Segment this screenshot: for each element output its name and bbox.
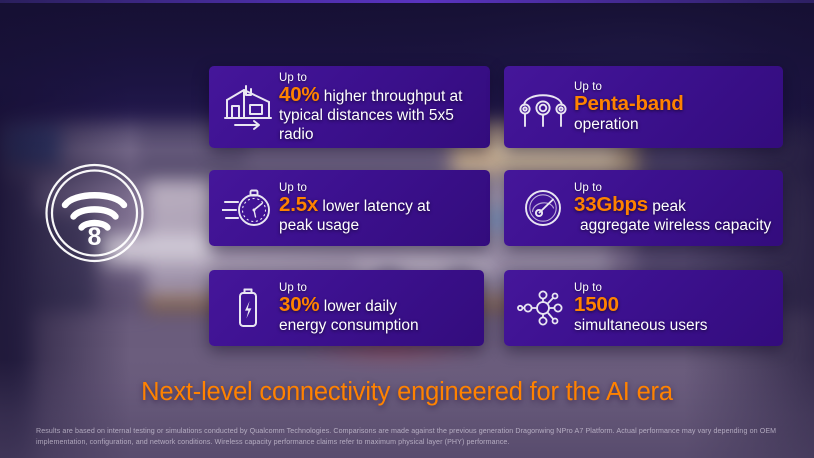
stat-line-2: operation	[574, 115, 775, 134]
stat-value: Penta-band	[574, 92, 684, 115]
stat-line-1: 33Gbps peak	[574, 195, 775, 216]
stat-suffix: lower latency at	[318, 198, 430, 215]
wifi-badge-number: 8	[88, 223, 102, 251]
card-text: Up to 33Gbps peak aggregate wireless cap…	[574, 181, 783, 235]
card-text: Up to 40% higher throughput at typical d…	[279, 71, 490, 144]
stat-value: 33Gbps	[574, 193, 648, 216]
house-throughput-icon	[217, 84, 279, 130]
stat-line-2: aggregate wireless capacity	[574, 216, 775, 235]
stat-line-1: 30% lower daily	[279, 295, 476, 316]
slide-canvas: 8 Up to 40% higher throughp	[0, 0, 814, 458]
stat-value: 2.5x	[279, 193, 318, 216]
card-text: Up to 1500 simultaneous users	[574, 281, 783, 335]
network-hub-nodes-icon	[512, 285, 574, 331]
stat-card-users[interactable]: Up to 1500 simultaneous users	[504, 270, 783, 346]
penta-band-antenna-icon	[512, 84, 574, 130]
battery-bolt-icon	[217, 285, 279, 331]
stat-line-2: typical distances with 5x5 radio	[279, 106, 482, 144]
stat-line-1: 1500	[574, 295, 775, 316]
stat-card-throughput[interactable]: Up to 40% higher throughput at typical d…	[209, 66, 490, 148]
stat-suffix: lower daily	[319, 298, 397, 315]
stat-line-2: energy consumption	[279, 316, 476, 335]
stat-suffix: higher throughput at	[319, 88, 462, 105]
stat-line-2: simultaneous users	[574, 316, 775, 335]
stat-card-penta-band[interactable]: Up to Penta-band operation	[504, 66, 783, 148]
stat-value: 30%	[279, 293, 319, 316]
stopwatch-icon	[217, 186, 279, 230]
speedometer-gauge-icon	[512, 186, 574, 230]
slide-headline: Next-level connectivity engineered for t…	[0, 378, 814, 407]
stat-value: 1500	[574, 293, 619, 316]
stat-line-2: peak usage	[279, 216, 482, 235]
stat-card-latency[interactable]: Up to 2.5x lower latency at peak usage	[209, 170, 490, 246]
stat-value: 40%	[279, 83, 319, 106]
stat-card-capacity[interactable]: Up to 33Gbps peak aggregate wireless cap…	[504, 170, 783, 246]
card-text: Up to Penta-band operation	[574, 80, 783, 134]
top-brand-bar	[0, 0, 814, 3]
stat-line-1: 40% higher throughput at	[279, 85, 482, 106]
stat-line-1: 2.5x lower latency at	[279, 195, 482, 216]
stat-card-energy[interactable]: Up to 30% lower daily energy consumption	[209, 270, 484, 346]
wifi-8-badge-icon: 8	[41, 163, 148, 263]
stat-line-1: Penta-band	[574, 94, 775, 115]
legal-footnote: Results are based on internal testing or…	[36, 426, 780, 448]
card-text: Up to 30% lower daily energy consumption	[279, 281, 484, 335]
stat-suffix: peak	[648, 198, 686, 215]
card-text: Up to 2.5x lower latency at peak usage	[279, 181, 490, 235]
